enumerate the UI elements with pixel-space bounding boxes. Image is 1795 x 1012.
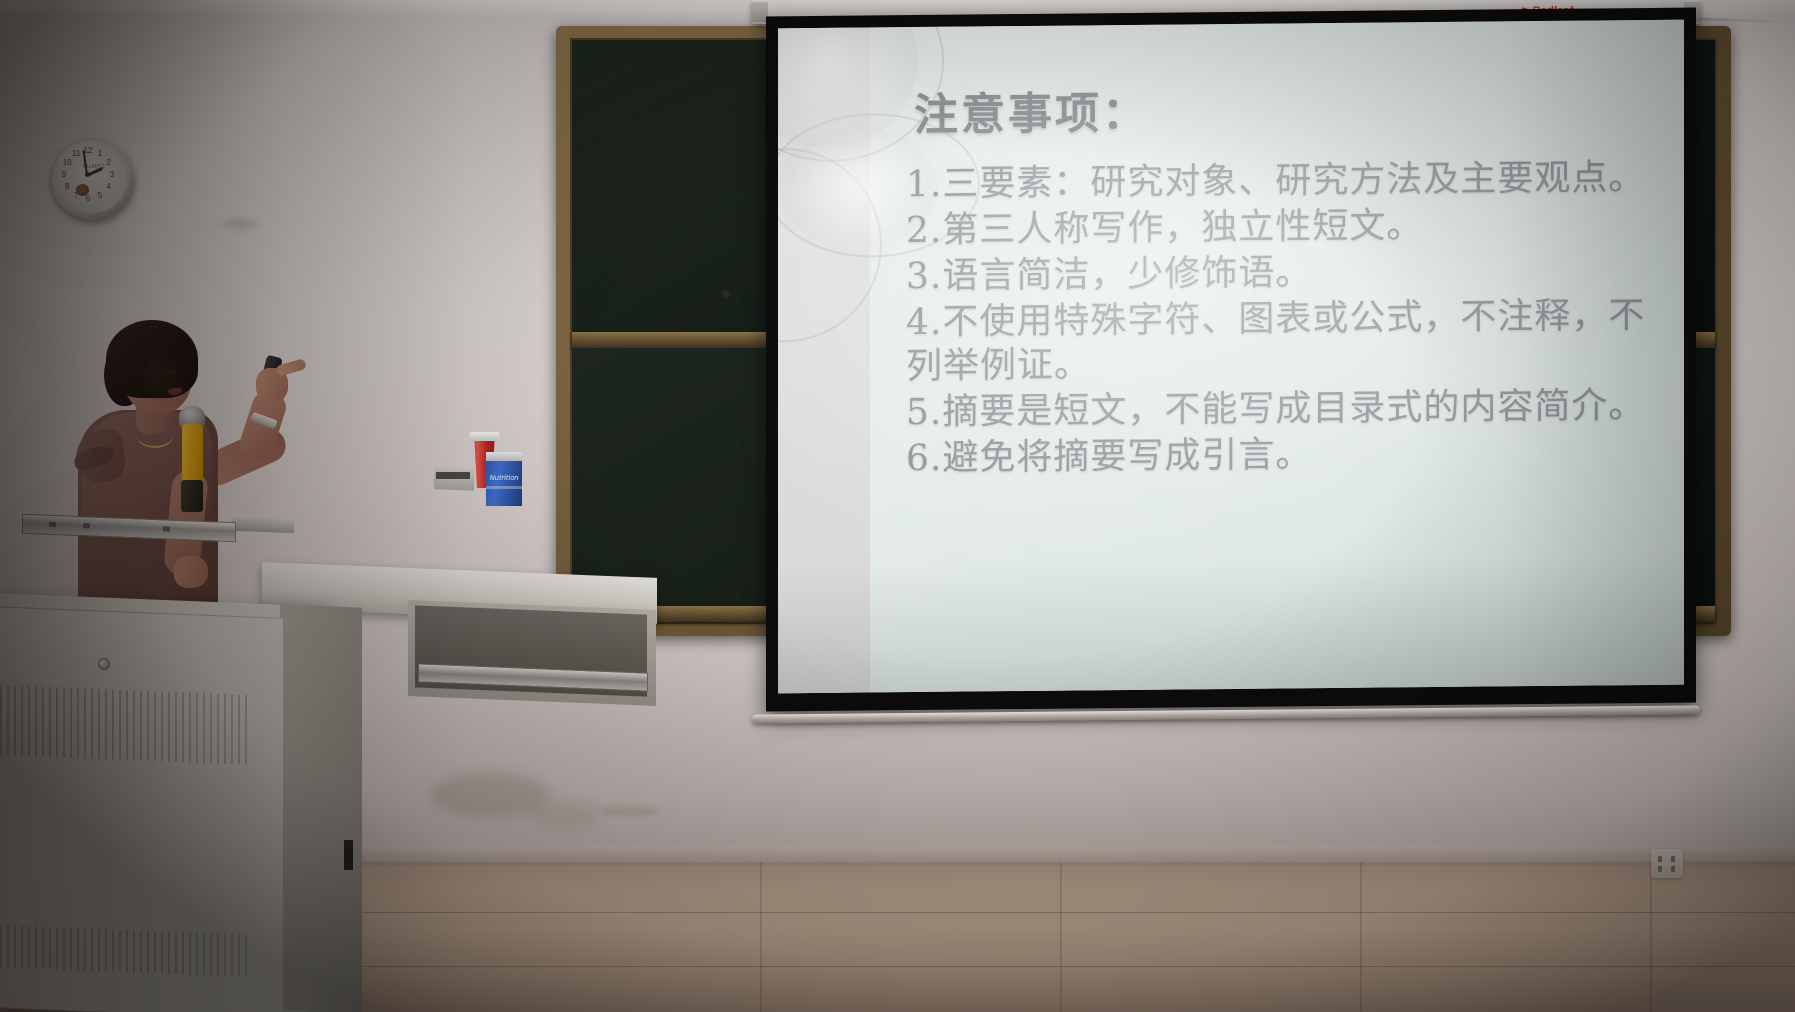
presenter-dress — [82, 412, 212, 532]
presenter-hair — [106, 320, 198, 398]
presenter-neck — [136, 394, 170, 434]
slide-body: 1.三要素：研究对象、研究方法及主要观点。2.第三人称写作，独立性短文。3.语言… — [906, 156, 1656, 483]
eye — [168, 370, 177, 374]
presenter-forearm-left — [236, 386, 290, 463]
presenter-upper-arm-left — [195, 423, 291, 491]
clock-numeral-10: 10 — [62, 158, 72, 168]
microphone-body[interactable] — [182, 424, 203, 484]
microphone-base — [181, 480, 203, 512]
projection-screen[interactable]: 注意事项： 1.三要素：研究对象、研究方法及主要观点。2.第三人称写作，独立性短… — [766, 8, 1696, 712]
clock-numeral-5: 5 — [95, 191, 105, 201]
slide-bullet-1: 1.三要素：研究对象、研究方法及主要观点。 — [906, 156, 1656, 207]
wall-clock: QUARTZ 121234567891011 — [52, 140, 134, 220]
projection-screen-surface: 注意事项： 1.三要素：研究对象、研究方法及主要观点。2.第三人称写作，独立性短… — [778, 20, 1684, 694]
floor-wall-seam — [0, 862, 1795, 867]
baseboard — [360, 845, 1795, 865]
podium-lock[interactable] — [98, 658, 110, 670]
slide-bullet-4: 4.不使用特殊字符、图表或公式，不注释，不列举例证。 — [906, 294, 1656, 389]
slide-bullet-2: 2.第三人称写作，独立性短文。 — [906, 202, 1656, 253]
blue-drink-carton — [486, 458, 522, 506]
presenter-hand-right — [174, 556, 208, 588]
floor-tile-line — [760, 862, 762, 1012]
floor-tile-line — [1360, 862, 1362, 1012]
eyebrow — [166, 364, 178, 366]
floor — [0, 862, 1795, 1012]
presentation-slide: 注意事项： 1.三要素：研究对象、研究方法及主要观点。2.第三人称写作，独立性短… — [778, 20, 1684, 694]
presenter-torso — [78, 410, 218, 610]
presenter-arm-right — [163, 468, 210, 577]
outlet-slot — [1671, 856, 1675, 862]
presenter-hand-left — [256, 368, 288, 402]
slide-bullet-5: 5.摘要是短文，不能写成目录式的内容简介。 — [906, 384, 1656, 435]
floor-tile-line — [0, 966, 1795, 967]
presenter-sleeve — [73, 427, 128, 485]
outlet-slot — [1658, 856, 1662, 862]
clock-numeral-9: 9 — [59, 170, 69, 180]
presenter-hair-side — [104, 348, 140, 406]
wall-stain — [530, 800, 600, 830]
slide-left-band — [778, 27, 870, 693]
clock-numeral-8: 8 — [62, 182, 72, 192]
small-box-slot — [436, 472, 470, 479]
wall-power-outlet[interactable] — [1651, 849, 1683, 878]
podium-right-panel — [280, 604, 362, 1012]
chalk-smudge — [722, 290, 730, 298]
floor-tile-line — [1650, 862, 1652, 1012]
clock-numeral-2: 2 — [104, 158, 114, 168]
presentation-remote[interactable] — [257, 355, 283, 400]
clock-hour-hand — [86, 166, 103, 176]
podium-vent-upper — [0, 685, 252, 765]
clock-numeral-3: 3 — [107, 170, 117, 180]
slide-decor-blob — [778, 20, 918, 149]
classroom-scene: QUARTZ 121234567891011 温馨提示 请保持教室清洁 中山大学… — [0, 0, 1795, 1012]
slide-edge-shadow — [778, 555, 1684, 694]
face-shading — [144, 354, 188, 406]
floor-tile-line — [1060, 862, 1062, 1012]
wall-stain — [430, 772, 550, 818]
wristwatch — [250, 412, 278, 429]
clock-numeral-6: 6 — [83, 194, 93, 204]
presenter-sleeve-frill — [72, 444, 115, 472]
microphone-head — [179, 406, 205, 428]
wall-scuff — [600, 806, 660, 816]
presenter-head — [122, 332, 192, 414]
podium-drawer-rail[interactable] — [418, 663, 648, 691]
slide-title: 注意事项： — [914, 77, 1149, 143]
clock-face — [59, 147, 127, 213]
podium-body — [0, 593, 330, 1012]
clock-numeral-11: 11 — [71, 149, 81, 159]
slide-bullet-3: 3.语言简洁，少修饰语。 — [906, 248, 1656, 299]
podium-gap — [344, 840, 353, 870]
rail-notch — [49, 522, 56, 527]
necklace — [136, 420, 174, 448]
slide-decor-circle — [778, 147, 882, 343]
wall-scuff — [222, 218, 258, 230]
outlet-slot — [1671, 866, 1675, 872]
mouth — [168, 387, 183, 395]
outlet-slot — [1658, 866, 1662, 872]
podium-vent-lower — [0, 925, 248, 977]
pointing-finger — [275, 358, 307, 377]
small-gray-box — [434, 467, 474, 490]
clock-numeral-7: 7 — [71, 191, 81, 201]
podium-front-door[interactable] — [0, 606, 284, 1012]
clock-numeral-4: 4 — [104, 182, 114, 192]
presenter — [70, 320, 320, 600]
floor-tile-line — [0, 912, 1795, 913]
slide-bullet-6: 6.避免将摘要写成引言。 — [906, 430, 1656, 481]
